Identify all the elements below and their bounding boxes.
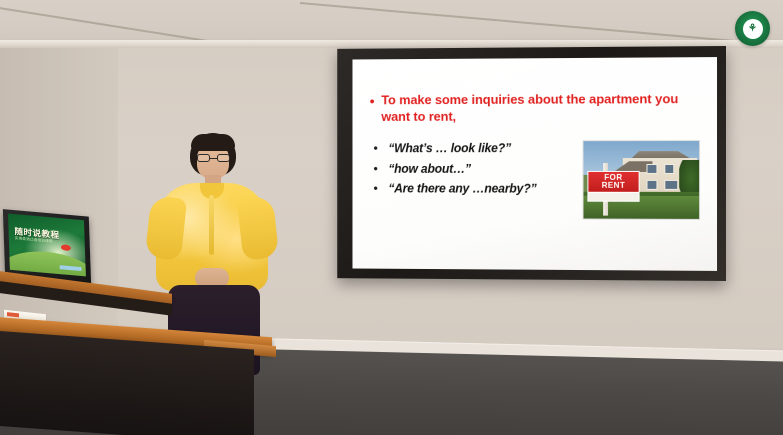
photo-door <box>664 180 678 190</box>
lecturer-fringe <box>191 134 235 151</box>
for-rent-line2: RENT <box>602 182 626 190</box>
house-for-rent-photo: FOR RENT <box>583 141 699 219</box>
podium-body <box>0 330 254 435</box>
list-item: • “Are there any …nearby?” <box>373 182 583 197</box>
lecturer-neck-tie <box>209 195 214 255</box>
bullet-marker-icon: • <box>373 162 377 175</box>
school-emblem-icon: ⚘ <box>735 11 770 46</box>
school-emblem-mark: ⚘ <box>748 24 757 34</box>
photo-window <box>647 180 657 190</box>
slide-sub-text: “Are there any …nearby?” <box>388 182 536 197</box>
lecturer-sleeve-left <box>145 195 187 260</box>
monitor-screen: 随时说教程 实用英语口语培训课程 <box>8 214 86 277</box>
bullet-marker-icon: • <box>373 182 377 195</box>
slide-main-text: To make some inquiries about the apartme… <box>381 91 703 125</box>
slide-main-bullet: • To make some inquiries about the apart… <box>370 91 703 125</box>
photo-window <box>664 164 674 173</box>
for-rent-sign: FOR RENT <box>587 171 640 194</box>
monitor-graphic-arc <box>8 247 86 276</box>
lecturer <box>148 133 276 363</box>
list-item: • “What’s … look like?” <box>373 141 583 156</box>
school-emblem-inner: ⚘ <box>743 19 763 39</box>
for-rent-sign-blank <box>587 193 640 202</box>
slide-sub-text: “What’s … look like?” <box>388 141 511 156</box>
bullet-marker-icon: • <box>370 95 375 125</box>
lecturer-sleeve-right <box>237 195 279 260</box>
glasses-icon <box>197 154 230 162</box>
list-item: • “how about…” <box>373 162 583 177</box>
photo-window <box>647 164 657 173</box>
lecture-video-frame: ⚘ • To make some inquiries about the apa… <box>0 0 783 435</box>
slide-sub-list: • “What’s … look like?” • “how about…” •… <box>370 141 584 218</box>
bullet-marker-icon: • <box>373 141 377 154</box>
slide-sub-text: “how about…” <box>388 162 470 177</box>
monitor-graphic-accent <box>61 244 71 251</box>
slide-surface: • To make some inquiries about the apart… <box>352 57 717 271</box>
projection-screen: • To make some inquiries about the apart… <box>337 46 726 281</box>
